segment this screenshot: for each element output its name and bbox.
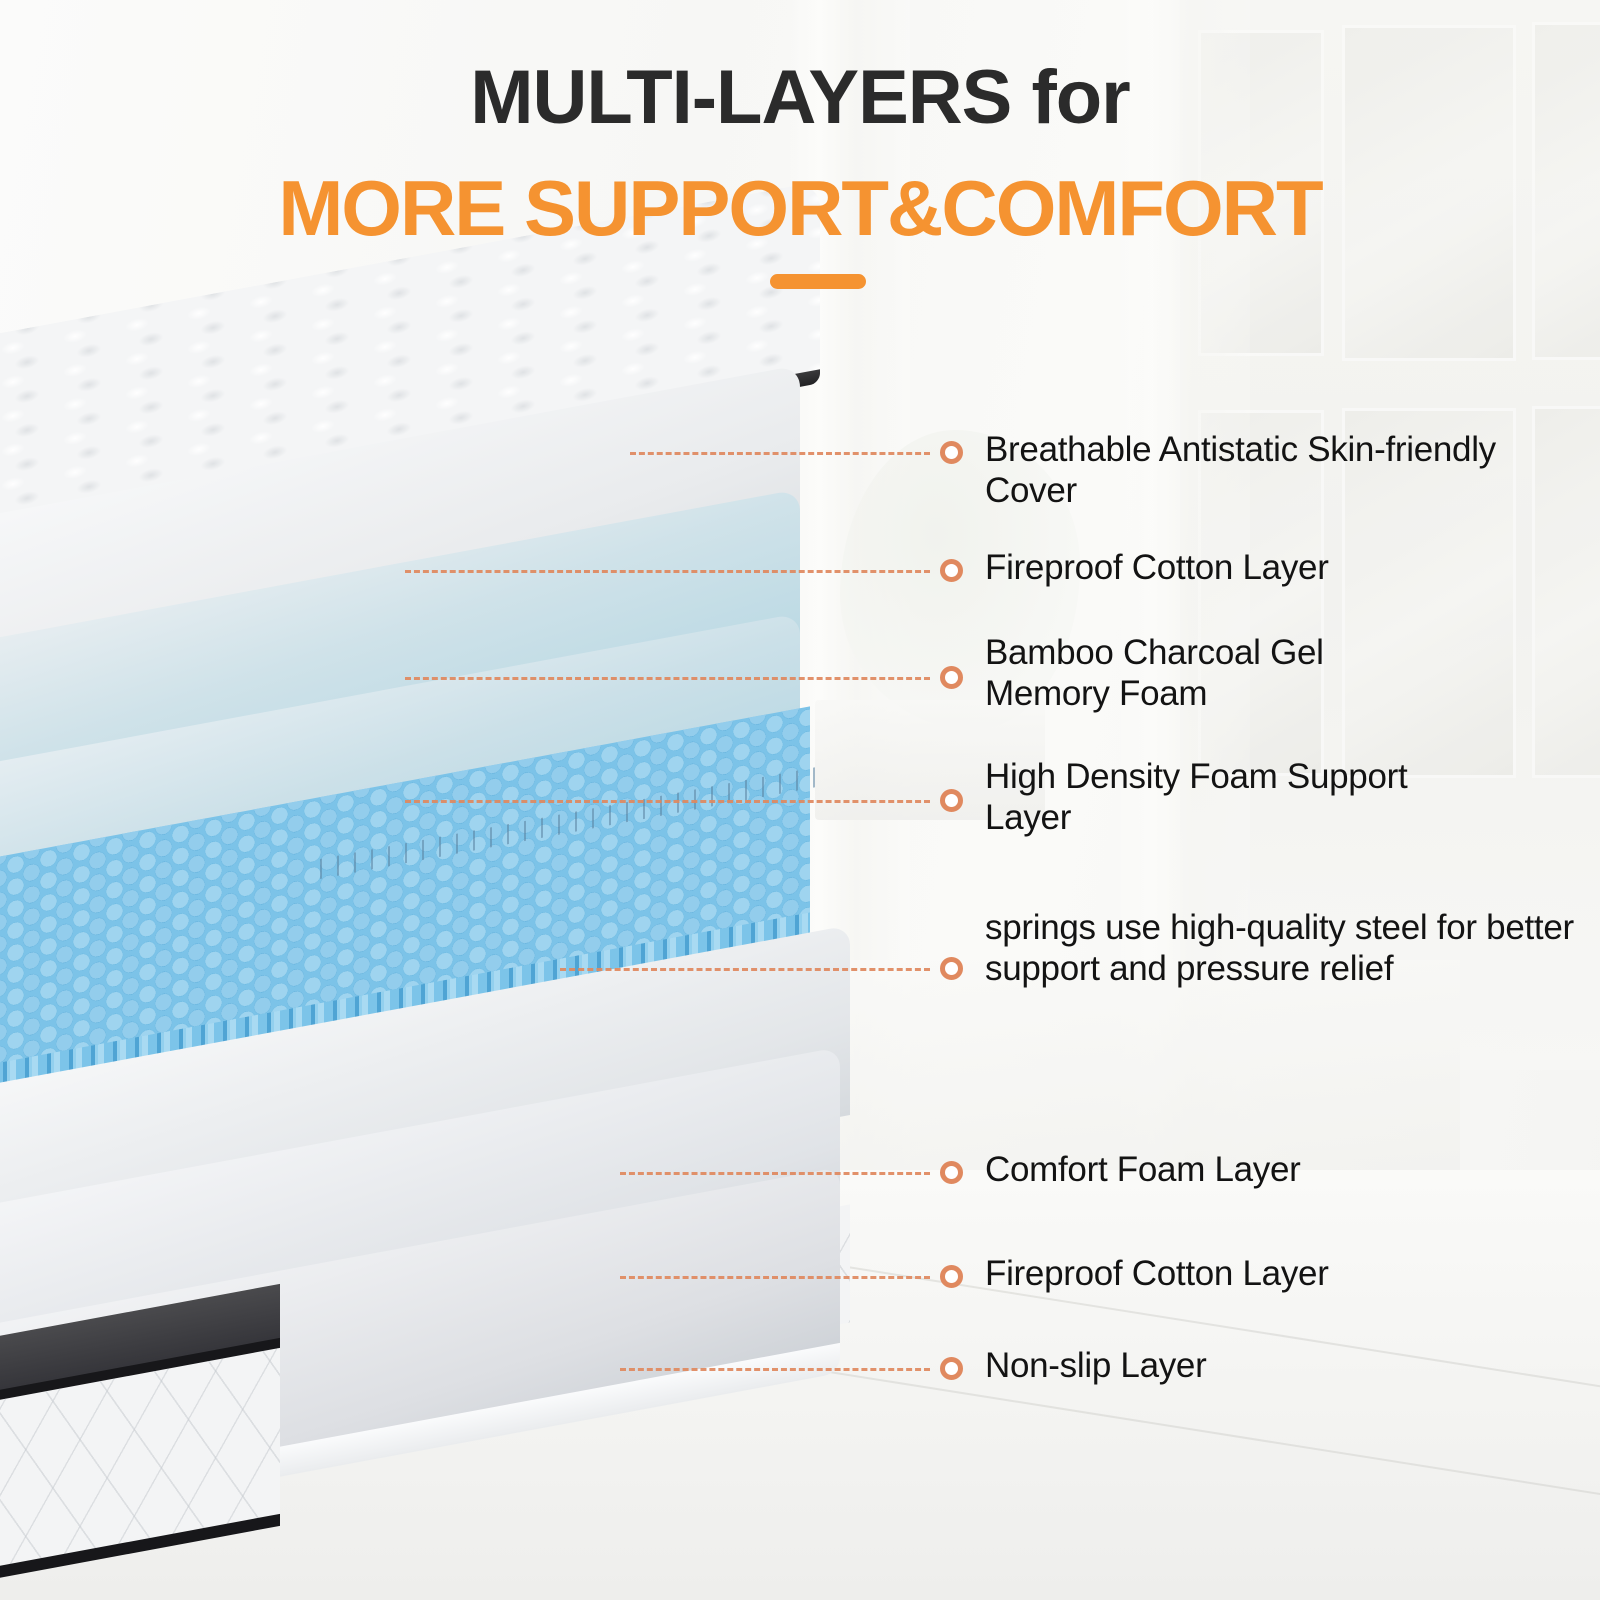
callout-label-bamboo-charcoal-gel: Bamboo Charcoal Gel Memory Foam xyxy=(985,633,1415,714)
callout-marker[interactable] xyxy=(940,1265,963,1288)
leader-line xyxy=(620,1368,930,1371)
callout-label-high-density-foam: High Density Foam Support Layer xyxy=(985,757,1415,838)
callout-label-non-slip: Non-slip Layer xyxy=(985,1346,1585,1387)
callout-marker[interactable] xyxy=(940,441,963,464)
leader-line xyxy=(405,800,930,803)
callout-marker[interactable] xyxy=(940,666,963,689)
leader-line xyxy=(620,1172,930,1175)
callout-layer: Breathable Antistatic Skin-friendly Cove… xyxy=(0,0,1600,1600)
leader-line xyxy=(405,677,930,680)
callout-marker[interactable] xyxy=(940,559,963,582)
leader-line xyxy=(630,452,930,455)
callout-label-breathable-cover: Breathable Antistatic Skin-friendly Cove… xyxy=(985,430,1585,511)
callout-marker[interactable] xyxy=(940,789,963,812)
callout-marker[interactable] xyxy=(940,1161,963,1184)
callout-marker[interactable] xyxy=(940,1357,963,1380)
callout-label-pocket-springs: springs use high-quality steel for bette… xyxy=(985,908,1585,989)
callout-label-fireproof-cotton-top: Fireproof Cotton Layer xyxy=(985,548,1585,589)
leader-line xyxy=(560,968,930,971)
callout-label-comfort-foam: Comfort Foam Layer xyxy=(985,1150,1585,1191)
callout-marker[interactable] xyxy=(940,957,963,980)
leader-line xyxy=(620,1276,930,1279)
infographic-canvas: MULTI-LAYERS for MORE SUPPORT&COMFORT xyxy=(0,0,1600,1600)
callout-label-fireproof-cotton-bottom: Fireproof Cotton Layer xyxy=(985,1254,1585,1295)
leader-line xyxy=(405,570,930,573)
